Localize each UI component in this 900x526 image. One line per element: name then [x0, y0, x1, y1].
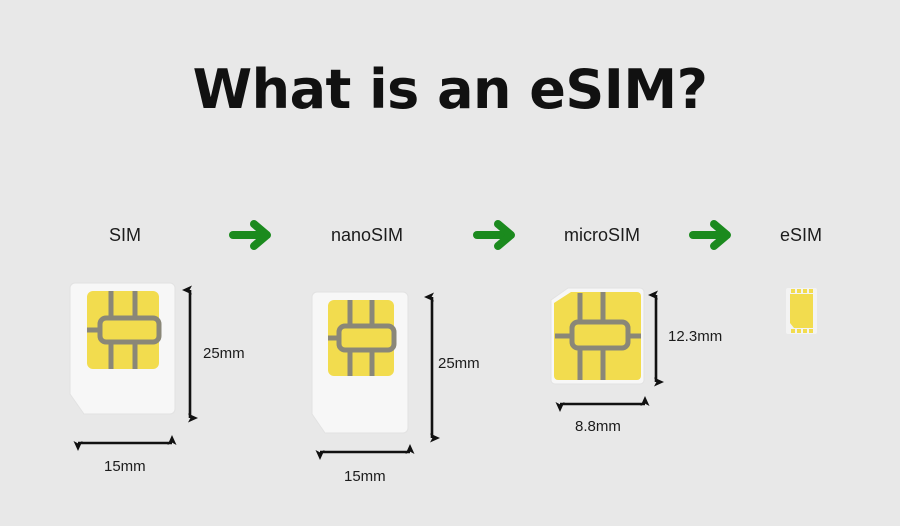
- sim-card: [70, 283, 175, 414]
- cards-stage: [0, 0, 900, 526]
- microsim-card: [551, 288, 644, 384]
- nanosim-card: [312, 292, 408, 433]
- sim-chip: [87, 291, 159, 369]
- nanosim-chip: [328, 300, 394, 376]
- microsim-width-label: 8.8mm: [575, 418, 621, 435]
- esim-chip: [786, 288, 817, 334]
- microsim-height-label: 12.3mm: [668, 328, 722, 345]
- nanosim-height-label: 25mm: [438, 355, 480, 372]
- microsim-chip: [554, 292, 641, 380]
- sim-width-label: 15mm: [104, 458, 146, 475]
- sim-height-label: 25mm: [203, 345, 245, 362]
- nanosim-width-label: 15mm: [344, 468, 386, 485]
- esim-chip-body: [790, 294, 813, 328]
- esim-infographic: What is an eSIM? SIM nanoSIM microSIM eS…: [0, 0, 900, 526]
